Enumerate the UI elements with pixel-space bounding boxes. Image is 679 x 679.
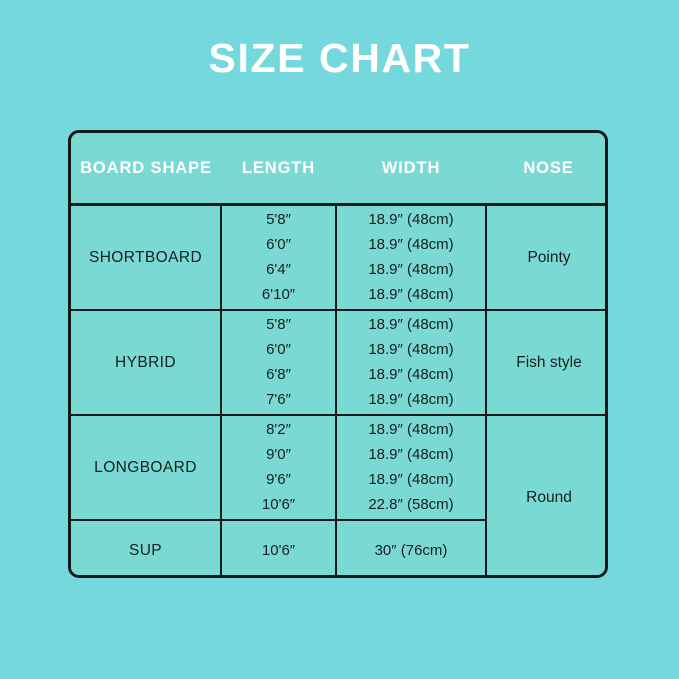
width-list: 18.9″ (48cm) 18.9″ (48cm) 18.9″ (48cm) 1… <box>337 312 485 412</box>
length-value: 5'8″ <box>222 312 335 337</box>
length-list: 10'6″ <box>222 538 335 563</box>
width-value: 18.9″ (48cm) <box>337 207 485 232</box>
width-value: 18.9″ (48cm) <box>337 337 485 362</box>
width-value: 30″ (76cm) <box>337 538 485 563</box>
width-value: 18.9″ (48cm) <box>337 387 485 412</box>
length-list: 5'8″ 6'0″ 6'4″ 6'10″ <box>222 207 335 307</box>
length-value: 6'0″ <box>222 337 335 362</box>
cell-nose: Fish style <box>486 310 608 415</box>
width-list: 18.9″ (48cm) 18.9″ (48cm) 18.9″ (48cm) 2… <box>337 417 485 517</box>
column-header-length: LENGTH <box>221 133 336 205</box>
cell-width: 18.9″ (48cm) 18.9″ (48cm) 18.9″ (48cm) 1… <box>336 310 486 415</box>
length-value: 9'0″ <box>222 442 335 467</box>
table-header-row: BOARD SHAPE LENGTH WIDTH NOSE <box>71 133 608 205</box>
length-value: 10'6″ <box>222 538 335 563</box>
length-value: 10'6″ <box>222 492 335 517</box>
length-list: 8'2″ 9'0″ 9'6″ 10'6″ <box>222 417 335 517</box>
table-row: SHORTBOARD 5'8″ 6'0″ 6'4″ 6'10″ 18.9″ (4… <box>71 205 608 310</box>
width-value: 18.9″ (48cm) <box>337 282 485 307</box>
cell-width: 18.9″ (48cm) 18.9″ (48cm) 18.9″ (48cm) 1… <box>336 205 486 310</box>
cell-board-shape: HYBRID <box>71 310 221 415</box>
table-row: LONGBOARD 8'2″ 9'0″ 9'6″ 10'6″ 18.9″ (48… <box>71 415 608 520</box>
table-body: SHORTBOARD 5'8″ 6'0″ 6'4″ 6'10″ 18.9″ (4… <box>71 205 608 579</box>
column-header-nose: NOSE <box>486 133 608 205</box>
length-value: 6'0″ <box>222 232 335 257</box>
cell-board-shape: SUP <box>71 520 221 579</box>
column-header-board-shape: BOARD SHAPE <box>71 133 221 205</box>
cell-length: 10'6″ <box>221 520 336 579</box>
size-chart-table: BOARD SHAPE LENGTH WIDTH NOSE SHORTBOARD… <box>71 133 608 578</box>
length-list: 5'8″ 6'0″ 6'8″ 7'6″ <box>222 312 335 412</box>
length-value: 7'6″ <box>222 387 335 412</box>
cell-length: 8'2″ 9'0″ 9'6″ 10'6″ <box>221 415 336 520</box>
cell-board-shape: SHORTBOARD <box>71 205 221 310</box>
length-value: 8'2″ <box>222 417 335 442</box>
width-value: 18.9″ (48cm) <box>337 232 485 257</box>
width-value: 18.9″ (48cm) <box>337 442 485 467</box>
cell-nose-merged: Round <box>486 415 608 579</box>
size-chart-table-container: BOARD SHAPE LENGTH WIDTH NOSE SHORTBOARD… <box>68 130 608 578</box>
length-value: 6'10″ <box>222 282 335 307</box>
cell-width: 18.9″ (48cm) 18.9″ (48cm) 18.9″ (48cm) 2… <box>336 415 486 520</box>
cell-length: 5'8″ 6'0″ 6'4″ 6'10″ <box>221 205 336 310</box>
length-value: 6'8″ <box>222 362 335 387</box>
size-chart-page: SIZE CHART BOARD SHAPE LENGTH WIDTH NOSE <box>0 0 679 679</box>
width-value: 22.8″ (58cm) <box>337 492 485 517</box>
cell-width: 30″ (76cm) <box>336 520 486 579</box>
length-value: 6'4″ <box>222 257 335 282</box>
cell-length: 5'8″ 6'0″ 6'8″ 7'6″ <box>221 310 336 415</box>
width-list: 18.9″ (48cm) 18.9″ (48cm) 18.9″ (48cm) 1… <box>337 207 485 307</box>
width-value: 18.9″ (48cm) <box>337 362 485 387</box>
width-value: 18.9″ (48cm) <box>337 257 485 282</box>
cell-board-shape: LONGBOARD <box>71 415 221 520</box>
width-value: 18.9″ (48cm) <box>337 312 485 337</box>
length-value: 5'8″ <box>222 207 335 232</box>
width-value: 18.9″ (48cm) <box>337 417 485 442</box>
page-title: SIZE CHART <box>0 34 679 82</box>
table-header: BOARD SHAPE LENGTH WIDTH NOSE <box>71 133 608 205</box>
length-value: 9'6″ <box>222 467 335 492</box>
width-list: 30″ (76cm) <box>337 538 485 563</box>
column-header-width: WIDTH <box>336 133 486 205</box>
cell-nose: Pointy <box>486 205 608 310</box>
table-row: HYBRID 5'8″ 6'0″ 6'8″ 7'6″ 18.9″ (48cm) … <box>71 310 608 415</box>
width-value: 18.9″ (48cm) <box>337 467 485 492</box>
